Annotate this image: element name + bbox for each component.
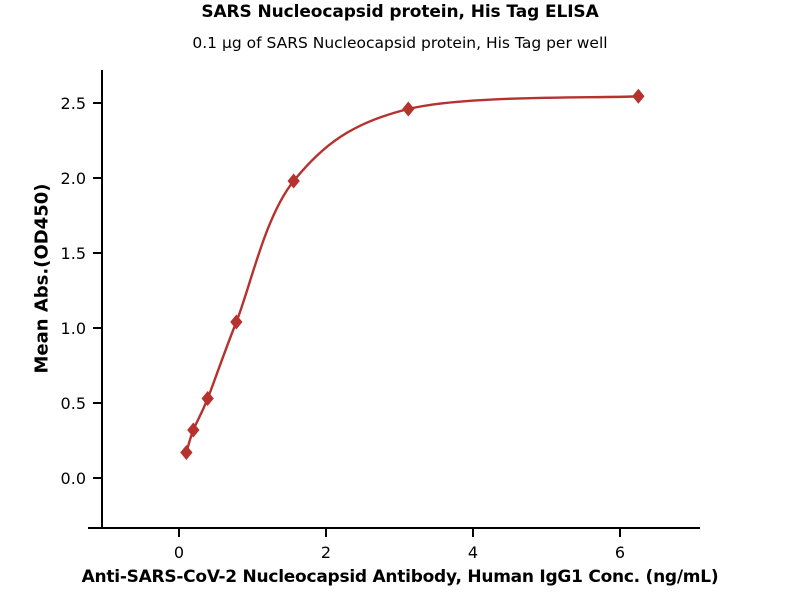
plot-area: 0.0 0.5 1.0 1.5 2.0 2.5 0 2 4 6 xyxy=(0,0,800,600)
chart-container: SARS Nucleocapsid protein, His Tag ELISA… xyxy=(0,0,800,600)
x-axis-ticks: 0 2 4 6 xyxy=(174,528,625,562)
data-series xyxy=(180,89,644,460)
x-tick-label: 0 xyxy=(174,543,184,562)
y-tick-label: 0.5 xyxy=(61,394,86,413)
x-tick-label: 4 xyxy=(468,543,478,562)
y-axis-ticks: 0.0 0.5 1.0 1.5 2.0 2.5 xyxy=(61,94,102,488)
x-tick-label: 2 xyxy=(321,543,331,562)
data-point-marker xyxy=(402,102,414,117)
data-point-marker xyxy=(180,445,192,460)
fit-curve xyxy=(186,96,638,452)
x-tick-label: 6 xyxy=(615,543,625,562)
y-tick-label: 1.5 xyxy=(61,244,86,263)
data-point-marker xyxy=(202,391,214,406)
y-tick-label: 2.0 xyxy=(61,169,86,188)
y-tick-label: 0.0 xyxy=(61,469,86,488)
data-point-marker xyxy=(187,423,199,438)
y-tick-label: 2.5 xyxy=(61,94,86,113)
data-point-marker xyxy=(230,315,242,330)
data-point-marker xyxy=(632,89,644,104)
y-tick-label: 1.0 xyxy=(61,319,86,338)
